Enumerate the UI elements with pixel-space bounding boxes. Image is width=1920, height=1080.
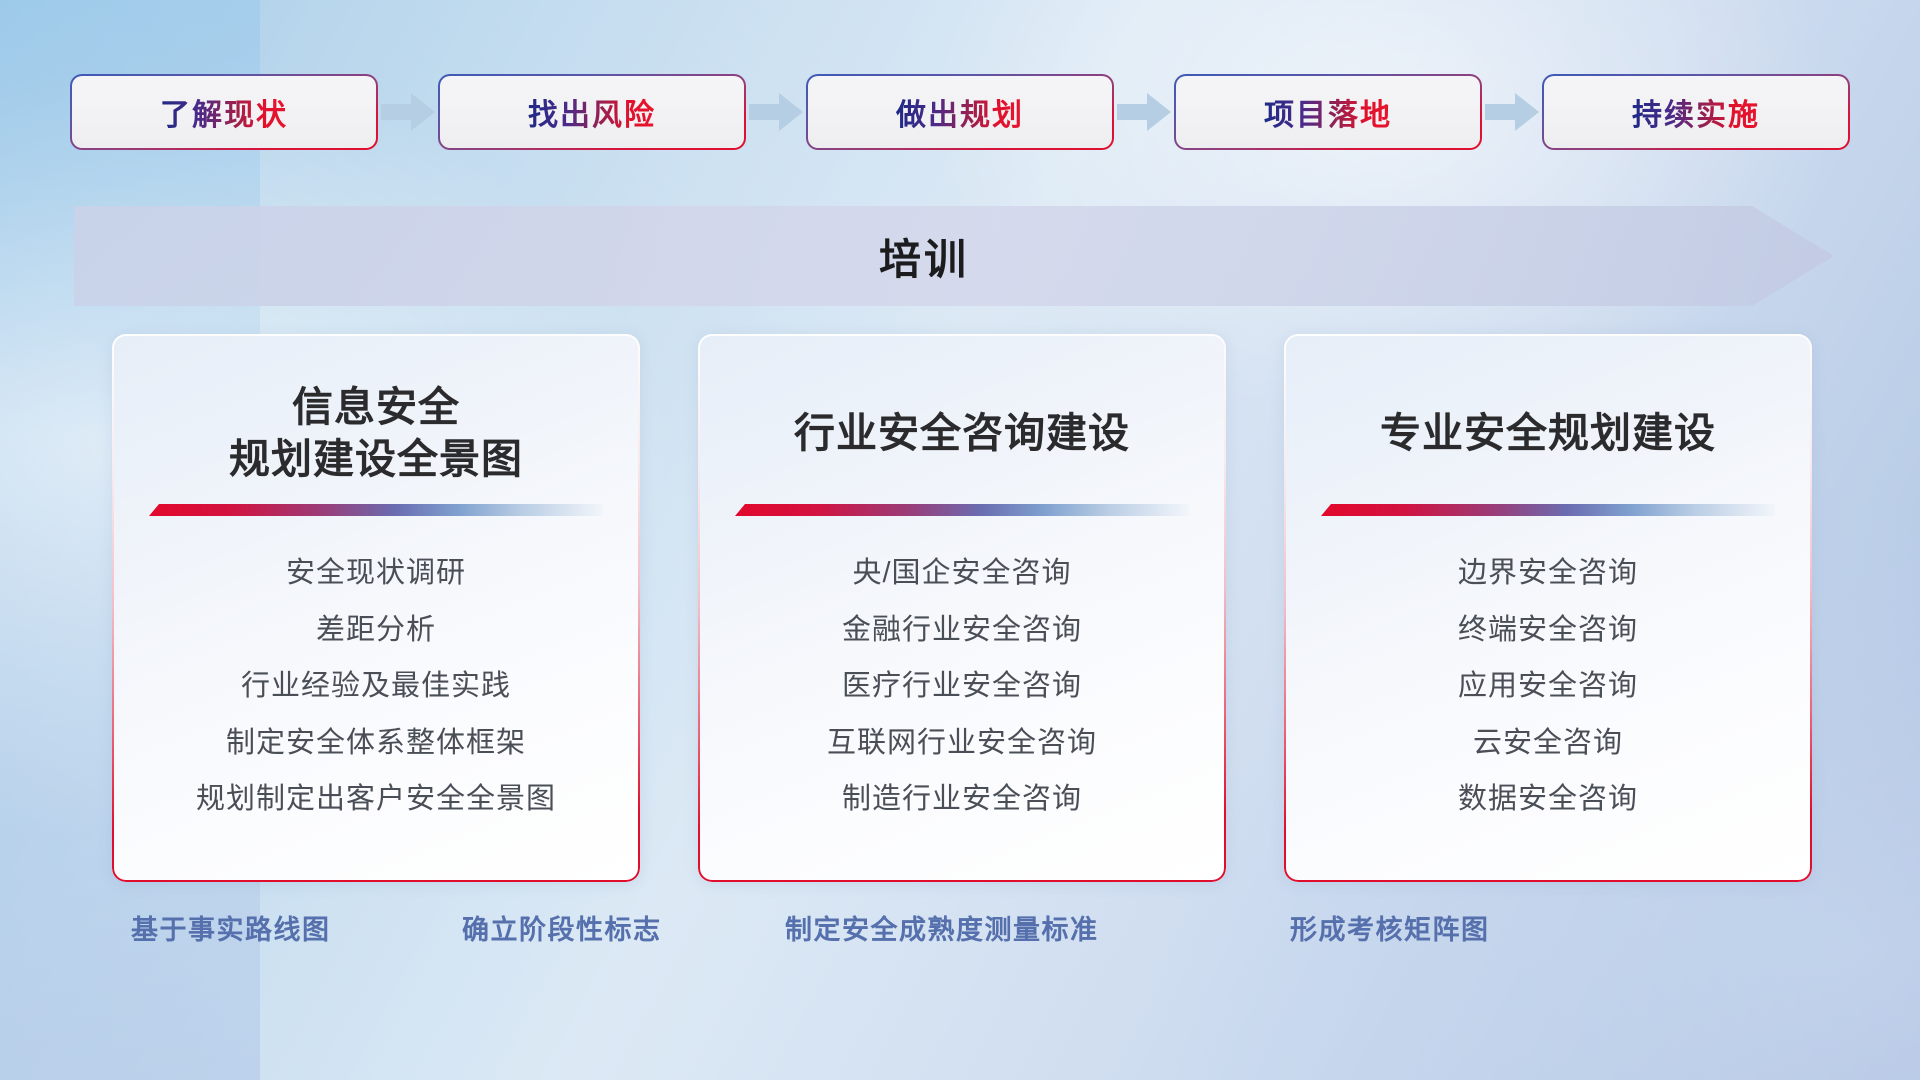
banner-title: 培训	[74, 206, 1834, 306]
list-item: 医疗行业安全咨询	[842, 665, 1082, 709]
list-item: 制定安全体系整体框架	[226, 722, 526, 766]
step-label: 做出规划	[896, 90, 1024, 134]
step-box-1[interactable]: 了解现状	[72, 76, 376, 148]
list-item: 安全现状调研	[286, 552, 466, 596]
step-box-2[interactable]: 找出风险	[440, 76, 744, 148]
card-title: 信息安全 规划建设全景图	[229, 382, 523, 486]
list-item: 规划制定出客户安全全景图	[196, 778, 556, 822]
list-item: 制造行业安全咨询	[842, 778, 1082, 822]
caption-maturity-standard: 制定安全成熟度测量标准	[785, 908, 1099, 947]
list-item: 终端安全咨询	[1458, 609, 1638, 653]
arrow-right-icon	[1480, 91, 1544, 133]
arrow-right-icon	[744, 91, 808, 133]
list-item: 行业经验及最佳实践	[241, 665, 511, 709]
caption-assessment-matrix: 形成考核矩阵图	[1290, 908, 1490, 947]
card-industry-security-consulting[interactable]: 行业安全咨询建设 央/国企安全咨询 金融行业安全咨询 医疗行业安全咨询 互联网行…	[698, 334, 1226, 882]
caption-roadmap: 基于事实路线图	[131, 908, 331, 947]
card-title: 行业安全咨询建设	[794, 382, 1130, 486]
card-title: 专业安全规划建设	[1380, 382, 1716, 486]
step-box-4[interactable]: 项目落地	[1176, 76, 1480, 148]
step-box-3[interactable]: 做出规划	[808, 76, 1112, 148]
card-list: 边界安全咨询 终端安全咨询 应用安全咨询 云安全咨询 数据安全咨询	[1458, 552, 1638, 822]
step-box-5[interactable]: 持续实施	[1544, 76, 1848, 148]
training-banner: 培训	[74, 206, 1834, 306]
card-divider	[735, 504, 1189, 516]
arrow-right-icon	[376, 91, 440, 133]
list-item: 数据安全咨询	[1458, 778, 1638, 822]
card-divider	[1321, 504, 1775, 516]
caption-milestones: 确立阶段性标志	[462, 908, 662, 947]
list-item: 互联网行业安全咨询	[827, 722, 1097, 766]
arrow-right-icon	[1112, 91, 1176, 133]
process-steps: 了解现状 找出风险 做出规划 项目落地 持续实施	[0, 76, 1920, 148]
card-professional-security-planning[interactable]: 专业安全规划建设 边界安全咨询 终端安全咨询 应用安全咨询 云安全咨询 数据安全…	[1284, 334, 1812, 882]
step-label: 找出风险	[528, 90, 656, 134]
list-item: 央/国企安全咨询	[852, 552, 1071, 596]
list-item: 差距分析	[316, 609, 436, 653]
card-information-security-blueprint[interactable]: 信息安全 规划建设全景图 安全现状调研 差距分析 行业经验及最佳实践 制定安全体…	[112, 334, 640, 882]
list-item: 应用安全咨询	[1458, 665, 1638, 709]
card-list: 安全现状调研 差距分析 行业经验及最佳实践 制定安全体系整体框架 规划制定出客户…	[196, 552, 556, 822]
step-label: 项目落地	[1264, 90, 1392, 134]
card-divider	[149, 504, 603, 516]
list-item: 云安全咨询	[1473, 722, 1623, 766]
list-item: 金融行业安全咨询	[842, 609, 1082, 653]
list-item: 边界安全咨询	[1458, 552, 1638, 596]
bottom-captions: 基于事实路线图 确立阶段性标志 制定安全成熟度测量标准 形成考核矩阵图	[0, 908, 1920, 964]
card-list: 央/国企安全咨询 金融行业安全咨询 医疗行业安全咨询 互联网行业安全咨询 制造行…	[827, 552, 1097, 822]
step-label: 持续实施	[1632, 90, 1760, 134]
step-label: 了解现状	[160, 90, 288, 134]
cards-row: 信息安全 规划建设全景图 安全现状调研 差距分析 行业经验及最佳实践 制定安全体…	[112, 334, 1812, 882]
slide-root: 了解现状 找出风险 做出规划 项目落地 持续实施 培训	[0, 0, 1920, 1080]
